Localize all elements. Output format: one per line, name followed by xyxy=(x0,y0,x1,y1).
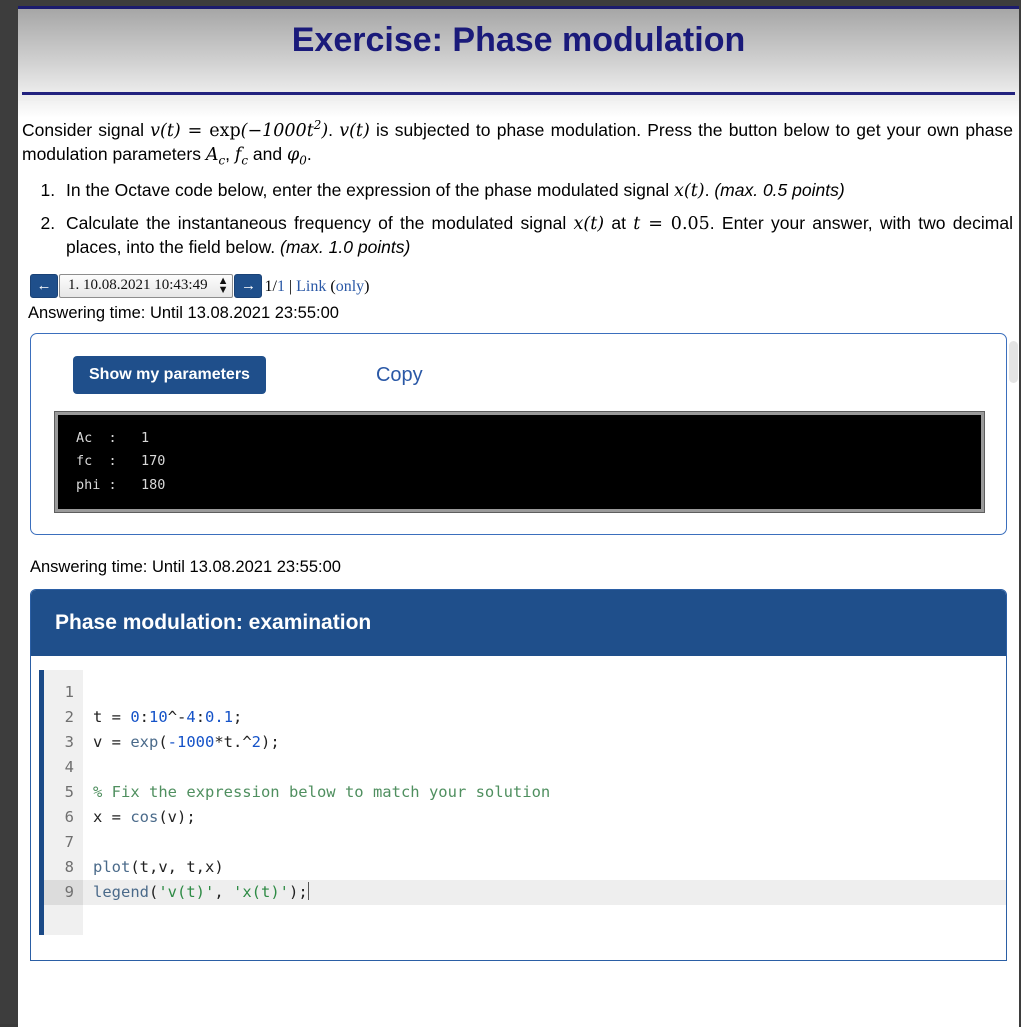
editor-code-line[interactable]: v = exp(-1000*t.^2); xyxy=(93,730,1006,755)
intro-text-before: Consider signal xyxy=(22,120,150,140)
code-token: , xyxy=(214,883,233,901)
code-token: exp xyxy=(130,733,158,751)
code-token: cos xyxy=(130,808,158,826)
exam-panel-title: Phase modulation: examination xyxy=(31,590,1006,656)
editor-line-number: 3 xyxy=(50,730,74,755)
code-token: (t,v, t,x) xyxy=(130,858,223,876)
exam-panel: Phase modulation: examination 123456789 … xyxy=(30,589,1007,961)
only-paren-close: ) xyxy=(364,278,369,295)
task-2-text-a: Calculate the instantaneous frequency of… xyxy=(66,213,574,233)
copy-button[interactable]: Copy xyxy=(376,362,423,389)
intro-text-comma: , xyxy=(225,144,235,164)
math-carrier-fc: fc xyxy=(235,145,248,165)
terminal-line: phi : 180 xyxy=(76,474,981,497)
task-1-points: (max. 0.5 points) xyxy=(714,180,844,200)
editor-code-area[interactable]: t = 0:10^-4:0.1;v = exp(-1000*t.^2); % F… xyxy=(83,670,1006,935)
math-phase-phi0: φ0 xyxy=(287,145,307,165)
editor-line-number: 4 xyxy=(50,755,74,780)
intro-text-mid: . xyxy=(328,120,339,140)
code-token: v = xyxy=(93,733,130,751)
code-token: -1000 xyxy=(168,733,215,751)
code-token: : xyxy=(140,708,149,726)
code-token: 0.1 xyxy=(205,708,233,726)
browser-window-frame: Exercise: Phase modulation Consider sign… xyxy=(0,0,1021,1024)
page-header: Exercise: Phase modulation xyxy=(18,6,1019,101)
exam-panel-body: 123456789 t = 0:10^-4:0.1;v = exp(-1000*… xyxy=(31,656,1006,960)
editor-code-line[interactable]: legend('v(t)', 'x(t)'); xyxy=(93,880,1006,905)
octave-code-editor[interactable]: 123456789 t = 0:10^-4:0.1;v = exp(-1000*… xyxy=(39,670,1006,935)
parameters-card: Show my parameters Copy Ac : 1fc : 170ph… xyxy=(30,333,1007,535)
nav-divider: | xyxy=(289,278,292,295)
task-2-points: (max. 1.0 points) xyxy=(280,237,410,257)
editor-line-number: 1 xyxy=(50,680,74,705)
code-token: ( xyxy=(149,883,158,901)
page-counter: 1/1|Link (only) xyxy=(264,276,369,297)
editor-code-line[interactable] xyxy=(93,830,1006,855)
code-token: 10 xyxy=(149,708,168,726)
answering-time-top: Answering time: Until 13.08.2021 23:55:0… xyxy=(28,303,1013,325)
code-token: (v); xyxy=(158,808,195,826)
math-v-of-t: v(t) xyxy=(339,121,370,141)
attempt-navigation-bar: ← 1. 10.08.2021 10:43:49 ▲▼ → 1/1|Link (… xyxy=(30,273,1013,299)
editor-line-number: 6 xyxy=(50,805,74,830)
editor-code-line[interactable] xyxy=(93,680,1006,705)
next-attempt-button[interactable]: → xyxy=(234,274,262,298)
intro-text-and: and xyxy=(248,144,287,164)
attempt-select[interactable]: 1. 10.08.2021 10:43:49 ▲▼ xyxy=(59,274,233,298)
math-amplitude-ac: Ac xyxy=(206,145,225,165)
code-token: *t.^ xyxy=(214,733,251,751)
math-x-of-t-task1: x(t) xyxy=(674,181,705,201)
page-title: Exercise: Phase modulation xyxy=(18,21,1019,60)
code-token: : xyxy=(196,708,205,726)
only-link[interactable]: only xyxy=(336,278,364,295)
exercise-content: Consider signal v(t) = exp(−1000t2). v(t… xyxy=(18,118,1019,961)
task-1-text-a: In the Octave code below, enter the expr… xyxy=(66,180,674,200)
editor-line-number-gutter: 123456789 xyxy=(44,670,83,935)
math-t-equals: t = 0.05 xyxy=(633,214,710,234)
editor-line-number: 8 xyxy=(50,855,74,880)
task-2-text-b: at xyxy=(604,213,633,233)
parameters-terminal-output: Ac : 1fc : 170phi : 180 xyxy=(55,412,984,512)
task-list: In the Octave code below, enter the expr… xyxy=(22,179,1013,259)
page-total-link[interactable]: 1 xyxy=(277,278,285,295)
text-cursor xyxy=(308,882,309,900)
editor-code-line[interactable]: plot(t,v, t,x) xyxy=(93,855,1006,880)
terminal-line: fc : 170 xyxy=(76,450,981,473)
intro-text-end: . xyxy=(307,144,312,164)
code-token: ); xyxy=(261,733,280,751)
intro-paragraph: Consider signal v(t) = exp(−1000t2). v(t… xyxy=(22,118,1013,169)
editor-line-number: 7 xyxy=(50,830,74,855)
attempt-select-value: 1. 10.08.2021 10:43:49 xyxy=(68,276,208,296)
code-token: 4 xyxy=(186,708,195,726)
show-my-parameters-button[interactable]: Show my parameters xyxy=(73,356,266,394)
code-token: 'v(t)' xyxy=(158,883,214,901)
code-token: % Fix the expression below to match your… xyxy=(93,783,550,801)
link-anchor[interactable]: Link xyxy=(296,278,326,295)
math-v-definition: v(t) = exp(−1000t2) xyxy=(150,121,328,141)
editor-code-line[interactable]: x = cos(v); xyxy=(93,805,1006,830)
header-divider-rule xyxy=(22,92,1015,95)
code-token: legend xyxy=(93,883,149,901)
editor-code-line[interactable]: t = 0:10^-4:0.1; xyxy=(93,705,1006,730)
editor-code-line[interactable] xyxy=(93,755,1006,780)
code-token: x = xyxy=(93,808,130,826)
task-1-text-b: . xyxy=(705,180,715,200)
answering-time-bottom: Answering time: Until 13.08.2021 23:55:0… xyxy=(30,557,1013,579)
code-token: 0 xyxy=(130,708,139,726)
editor-line-number: 9 xyxy=(44,880,83,905)
code-token: 2 xyxy=(252,733,261,751)
code-token: t = xyxy=(93,708,130,726)
terminal-line: Ac : 1 xyxy=(76,427,981,450)
parameters-toolbar: Show my parameters Copy xyxy=(49,356,988,394)
code-token: ; xyxy=(233,708,242,726)
code-token: ^- xyxy=(168,708,187,726)
task-item-1: In the Octave code below, enter the expr… xyxy=(60,179,1013,203)
code-token: ( xyxy=(158,733,167,751)
page-surface: Exercise: Phase modulation Consider sign… xyxy=(18,6,1019,1027)
code-token: 'x(t)' xyxy=(233,883,289,901)
task-item-2: Calculate the instantaneous frequency of… xyxy=(60,212,1013,260)
header-gradient-fade xyxy=(18,101,1019,118)
editor-line-number: 2 xyxy=(50,705,74,730)
chevron-updown-icon: ▲▼ xyxy=(218,277,229,295)
page-scrollbar-thumb[interactable] xyxy=(1009,341,1018,383)
code-token: ); xyxy=(289,883,308,901)
editor-code-line[interactable]: % Fix the expression below to match your… xyxy=(93,780,1006,805)
editor-line-number: 5 xyxy=(50,780,74,805)
math-x-of-t-task2: x(t) xyxy=(574,214,605,234)
prev-attempt-button[interactable]: ← xyxy=(30,274,58,298)
code-token: plot xyxy=(93,858,130,876)
